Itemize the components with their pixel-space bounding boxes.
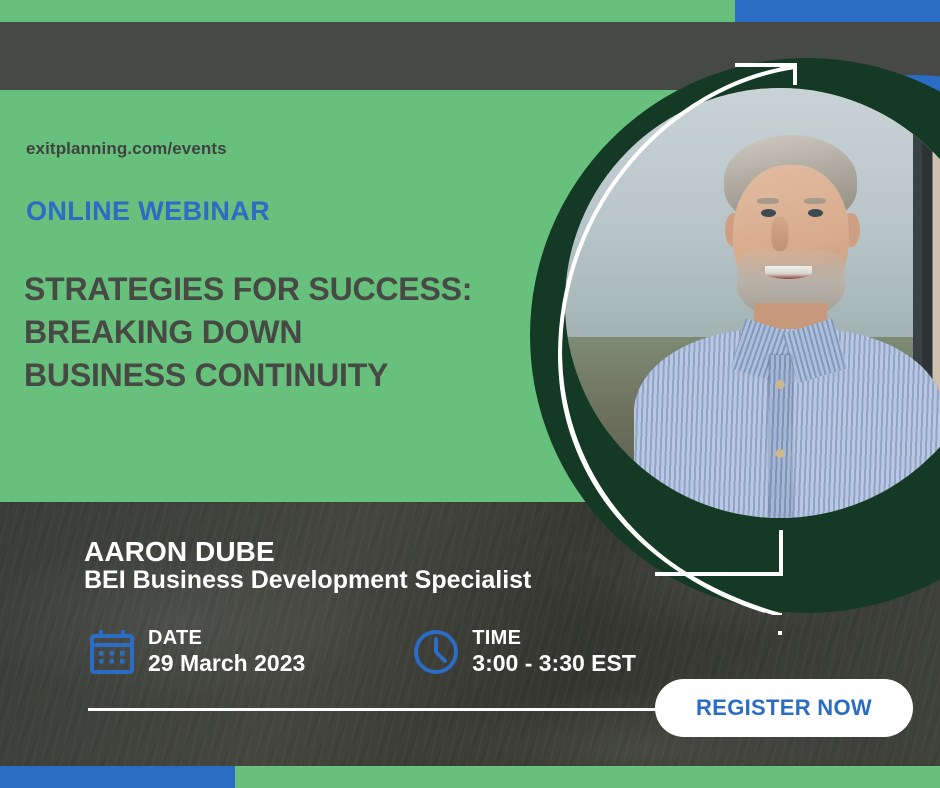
page-title: STRATEGIES FOR SUCCESS: BREAKING DOWN BU… [24, 268, 544, 398]
register-now-label: REGISTER NOW [696, 695, 872, 721]
calendar-icon [88, 628, 136, 681]
meta-time-text: TIME 3:00 - 3:30 EST [472, 628, 636, 676]
top-strip-green-segment [0, 0, 735, 22]
bottom-strip-blue-segment [0, 766, 235, 788]
top-strip-blue-segment [735, 0, 940, 22]
meta-date-text: DATE 29 March 2023 [148, 628, 305, 676]
event-meta: DATE 29 March 2023 TIME 3:00 - 3:30 EST [88, 628, 636, 681]
meta-item-time: TIME 3:00 - 3:30 EST [412, 628, 636, 681]
bracket-elbow-svg [655, 530, 785, 578]
headline-line-2: BREAKING DOWN [24, 311, 544, 354]
headline-line-3: BUSINESS CONTINUITY [24, 354, 544, 397]
meta-time-value: 3:00 - 3:30 EST [472, 650, 636, 676]
bottom-strip-green-segment [235, 766, 940, 788]
webinar-kicker: ONLINE WEBINAR [26, 196, 270, 227]
top-accent-strip [0, 0, 940, 22]
horizontal-divider [88, 708, 658, 711]
speaker-role: BEI Business Development Specialist [84, 566, 531, 595]
webinar-promo-poster: exitplanning.com/events ONLINE WEBINAR S… [0, 0, 940, 788]
event-url: exitplanning.com/events [26, 139, 227, 159]
meta-item-date: DATE 29 March 2023 [88, 628, 305, 681]
meta-time-label: TIME [472, 628, 636, 650]
meta-date-value: 29 March 2023 [148, 650, 305, 676]
meta-date-label: DATE [148, 628, 305, 650]
register-now-button[interactable]: REGISTER NOW [655, 679, 913, 737]
speaker-name: AARON DUBE [84, 536, 275, 568]
white-bracket-elbow [655, 530, 785, 578]
headline-line-1: STRATEGIES FOR SUCCESS: [24, 268, 544, 311]
bottom-accent-strip [0, 766, 940, 788]
clock-icon [412, 628, 460, 681]
